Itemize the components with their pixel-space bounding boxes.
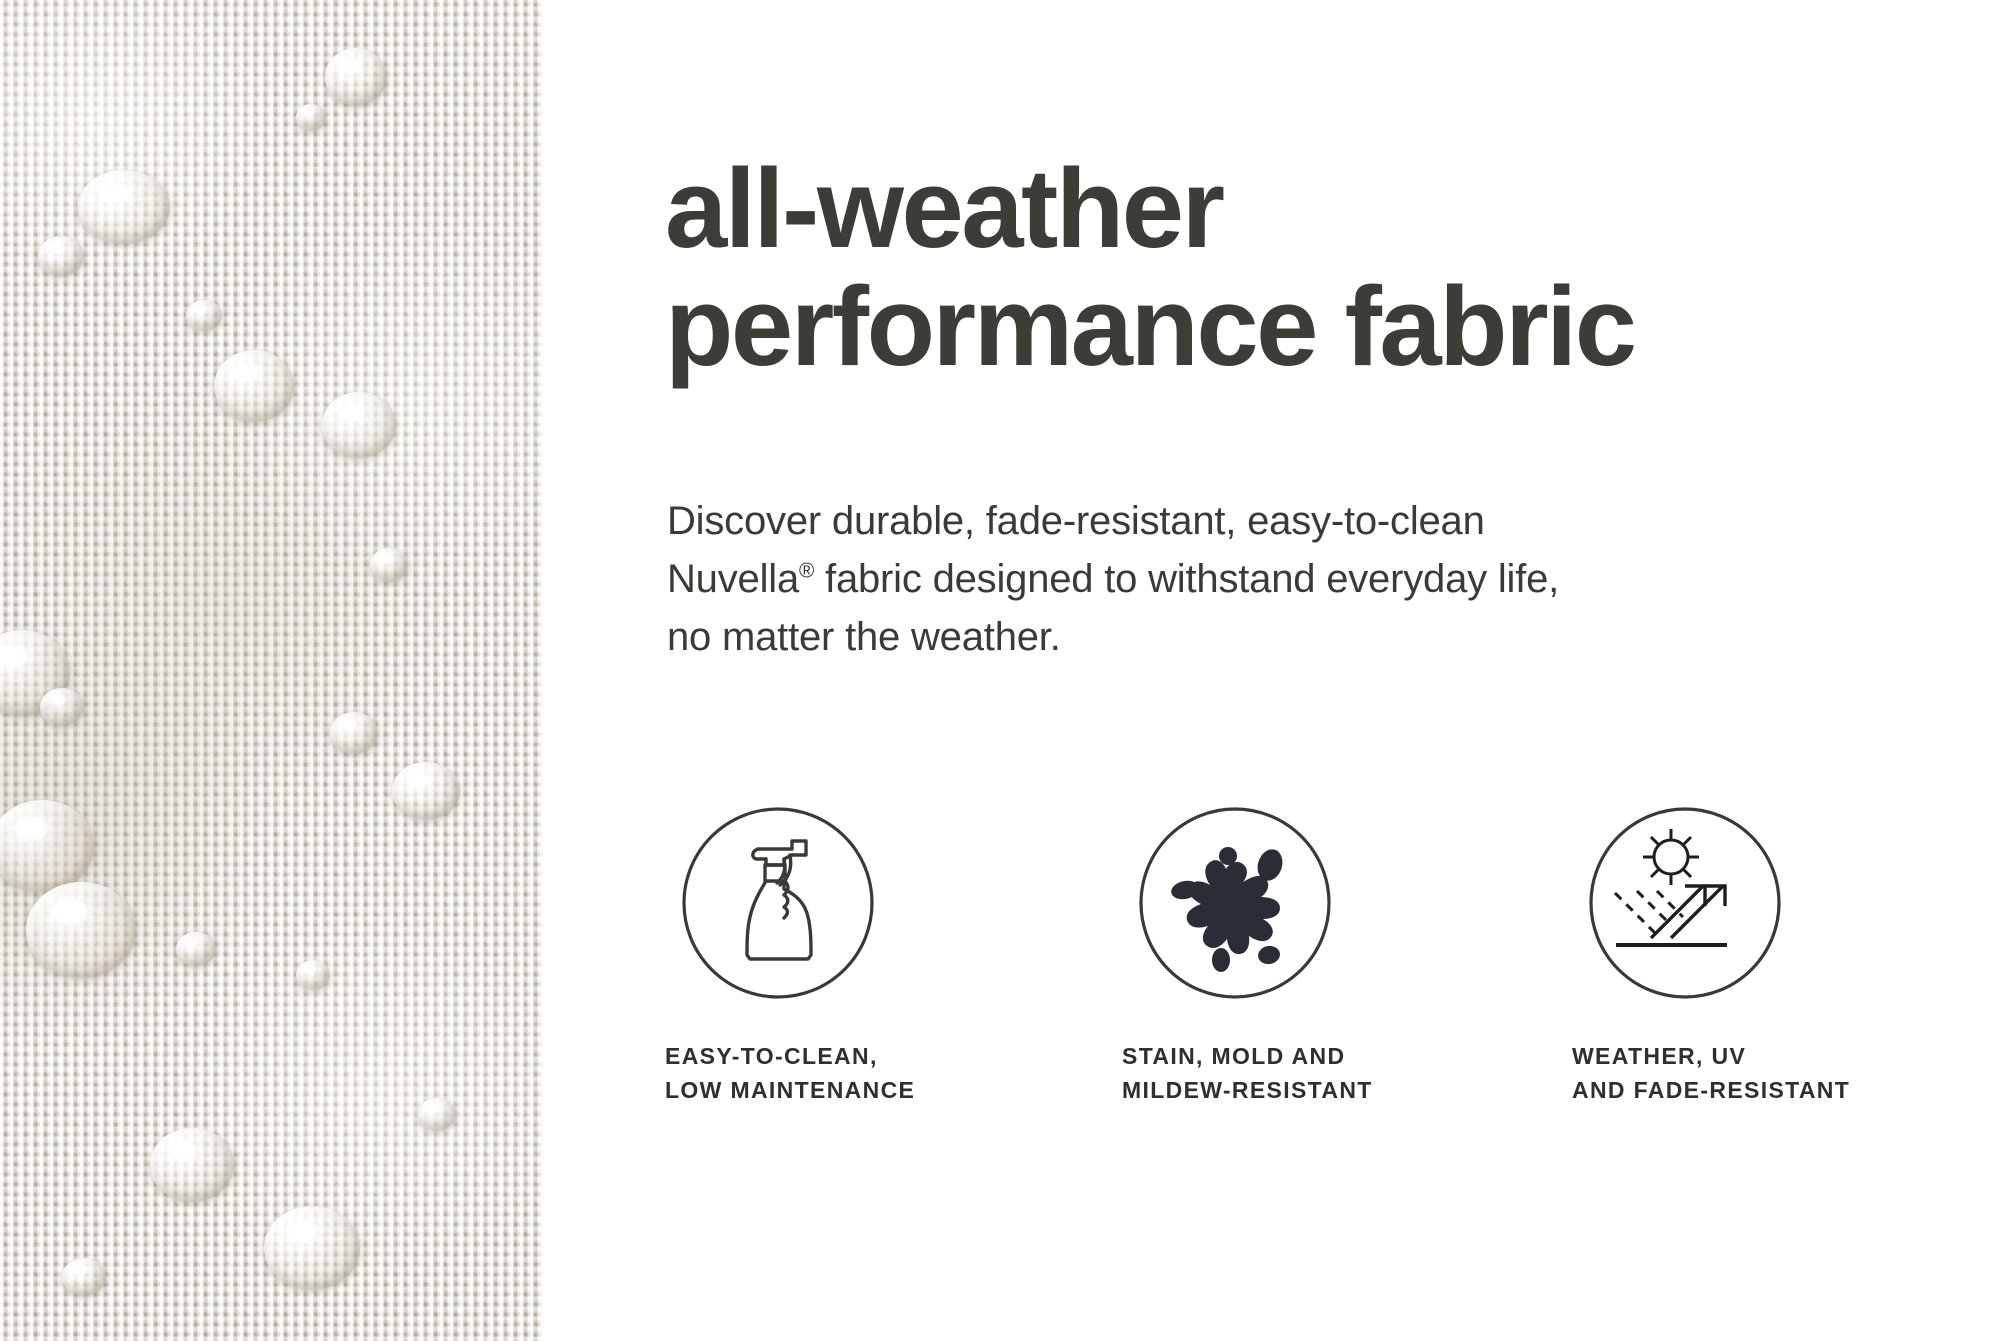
feature-stain-mold-mildew: STAIN, MOLD AND MILDEW-RESISTANT — [1122, 805, 1482, 1107]
water-droplet — [38, 236, 84, 276]
water-droplet — [264, 1206, 360, 1290]
fabric-photo-panel — [0, 0, 543, 1341]
feature-easy-to-clean: EASY-TO-CLEAN, LOW MAINTENANCE — [665, 805, 1025, 1107]
brand-name: Nuvella — [667, 557, 799, 601]
water-droplet — [0, 800, 94, 892]
water-droplet — [325, 48, 387, 106]
subcopy-line-2: Nuvella® fabric designed to withstand ev… — [667, 550, 1627, 608]
subcopy-line-2-rest: fabric designed to withstand everyday li… — [814, 557, 1559, 601]
water-droplet — [40, 688, 84, 726]
water-droplet — [176, 932, 216, 966]
feature-label-line-2: LOW MAINTENANCE — [665, 1073, 1025, 1107]
feature-label-weather-uv-fade: WEATHER, UV AND FADE-RESISTANT — [1572, 1039, 1932, 1107]
water-droplet — [214, 350, 294, 422]
registered-trademark-symbol: ® — [799, 560, 814, 583]
water-droplet — [186, 300, 222, 331]
water-droplet — [370, 548, 408, 582]
feature-label-easy-to-clean: EASY-TO-CLEAN, LOW MAINTENANCE — [665, 1039, 1025, 1107]
water-droplet — [392, 762, 460, 820]
water-droplets-group — [0, 0, 543, 1341]
feature-label-line-2: MILDEW-RESISTANT — [1122, 1073, 1482, 1107]
water-droplet — [418, 1098, 456, 1131]
headline-line-2: performance fabric — [665, 268, 1925, 386]
water-droplet — [296, 960, 330, 990]
page-title: all-weather performance fabric — [665, 150, 1925, 386]
subcopy-line-3: no matter the weather. — [667, 608, 1627, 666]
subcopy-line-1: Discover durable, fade-resistant, easy-t… — [667, 492, 1627, 550]
feature-icon-row: EASY-TO-CLEAN, LOW MAINTENANCE — [665, 805, 1925, 1145]
water-droplet — [62, 1258, 106, 1296]
all-weather-fabric-banner: all-weather performance fabric Discover … — [0, 0, 2010, 1341]
water-droplet — [296, 104, 326, 131]
content-column: all-weather performance fabric Discover … — [665, 0, 1915, 1341]
feature-label-line-2: AND FADE-RESISTANT — [1572, 1073, 1932, 1107]
water-droplet — [330, 712, 378, 754]
water-droplet — [26, 882, 136, 978]
feature-label-line-1: WEATHER, UV — [1572, 1039, 1932, 1073]
feature-label-line-1: EASY-TO-CLEAN, — [665, 1039, 1025, 1073]
stain-splat-icon — [1137, 805, 1333, 1001]
feature-weather-uv-fade: WEATHER, UV AND FADE-RESISTANT — [1572, 805, 1932, 1107]
water-droplet — [150, 1128, 234, 1202]
spray-bottle-icon — [680, 805, 876, 1001]
sun-uv-deflect-icon — [1587, 805, 1783, 1001]
water-droplet — [78, 170, 170, 244]
feature-label-line-1: STAIN, MOLD AND — [1122, 1039, 1482, 1073]
subcopy-paragraph: Discover durable, fade-resistant, easy-t… — [667, 492, 1627, 666]
water-droplet — [322, 392, 396, 458]
feature-label-stain-mold-mildew: STAIN, MOLD AND MILDEW-RESISTANT — [1122, 1039, 1482, 1107]
headline-line-1: all-weather — [665, 150, 1925, 268]
